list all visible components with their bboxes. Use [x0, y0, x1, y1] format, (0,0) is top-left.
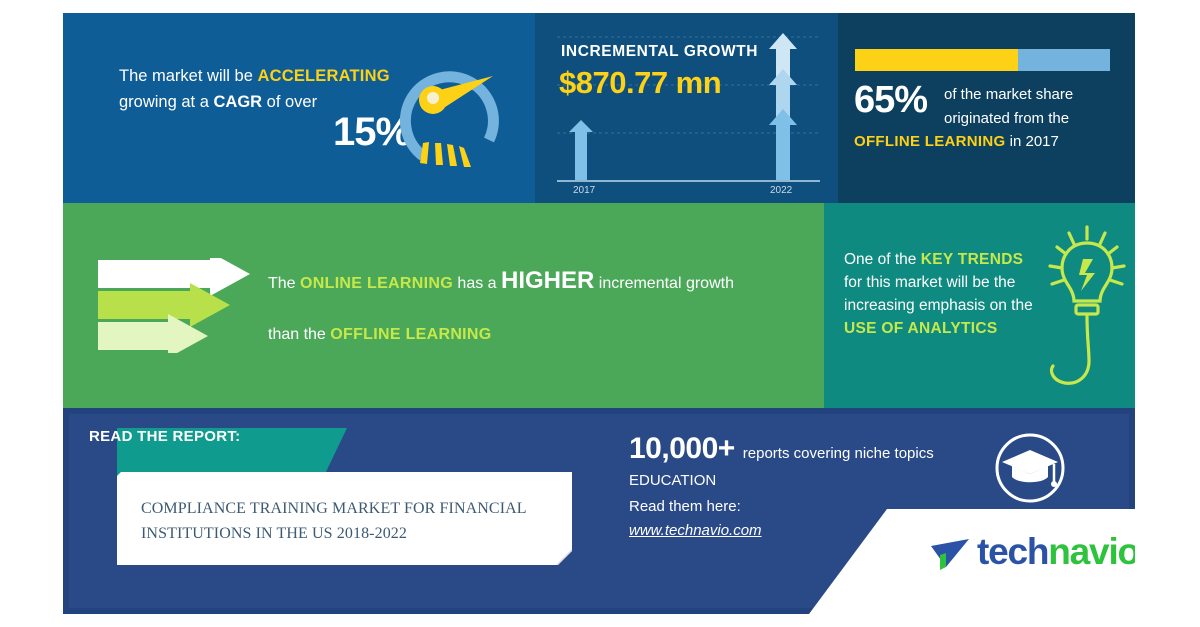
- cagr-statement: The market will be ACCELERATING growing …: [119, 63, 419, 115]
- online-learning-panel: The ONLINE LEARNING has a HIGHER increme…: [63, 203, 824, 408]
- incremental-growth-panel: INCREMENTAL GROWTH $870.77 mn 2017 2022: [535, 13, 838, 203]
- share-description-2: OFFLINE LEARNING in 2017: [854, 131, 1124, 153]
- speedometer-gauge-icon: [393, 48, 513, 178]
- technavio-logo-plate: technavio: [809, 509, 1135, 614]
- market-share-panel: 65% of the market share originated from …: [838, 13, 1135, 203]
- offline-learning-accent: OFFLINE LEARNING: [854, 133, 1005, 150]
- read-here-label: Read them here:: [629, 498, 741, 515]
- technavio-wordmark: technavio: [977, 531, 1135, 573]
- higher-emphasis: HIGHER: [501, 267, 594, 294]
- share-description: of the market share originated from the: [944, 83, 1129, 131]
- share-line2: originated from the: [944, 110, 1069, 127]
- share-bar-fill: [855, 49, 1018, 71]
- cagr-line2-post: of over: [262, 93, 317, 111]
- footer-inner: READ THE REPORT: COMPLIANCE TRAINING MAR…: [69, 414, 1129, 608]
- report-title-card[interactable]: COMPLIANCE TRAINING MARKET FOR FINANCIAL…: [117, 472, 572, 565]
- share-percent: 65%: [854, 79, 927, 122]
- offline-learning-accent-2: OFFLINE LEARNING: [330, 326, 491, 343]
- online-mid: has a: [453, 275, 501, 292]
- reports-count-label: reports covering niche topics: [743, 445, 934, 462]
- card-fold-corner: [556, 549, 572, 565]
- growth-title: INCREMENTAL GROWTH: [561, 43, 758, 61]
- online-learning-accent: ONLINE LEARNING: [300, 275, 453, 292]
- trends-statement: One of the KEY TRENDS for this market wi…: [844, 248, 1044, 340]
- axis-label-2022: 2022: [770, 185, 792, 196]
- key-trends-panel: One of the KEY TRENDS for this market wi…: [824, 203, 1135, 408]
- logo-text-tech: tech: [977, 531, 1048, 572]
- online-pre: The: [268, 275, 300, 292]
- share-bar-track: [855, 49, 1110, 71]
- three-arrows-icon: [98, 258, 258, 353]
- share-suffix: in 2017: [1005, 133, 1058, 150]
- trends-mid: for this market will be the increasing e…: [844, 274, 1033, 314]
- bar-2017: [569, 120, 593, 180]
- cagr-panel: The market will be ACCELERATING growing …: [63, 13, 535, 203]
- report-title: COMPLIANCE TRAINING MARKET FOR FINANCIAL…: [141, 496, 561, 546]
- middle-row: The ONLINE LEARNING has a HIGHER increme…: [63, 203, 1135, 408]
- read-the-report-label: READ THE REPORT:: [89, 428, 240, 445]
- footer-row: READ THE REPORT: COMPLIANCE TRAINING MAR…: [63, 408, 1135, 614]
- growth-value: $870.77 mn: [559, 65, 721, 101]
- website-url-link[interactable]: www.technavio.com: [629, 522, 762, 539]
- online-post: incremental growth: [594, 275, 734, 292]
- lightbulb-idea-icon: [1039, 223, 1134, 398]
- growth-bar-chart: [535, 13, 838, 203]
- category-label: EDUCATION: [629, 472, 716, 489]
- online-line2-pre: than the: [268, 326, 330, 343]
- cagr-bold-label: CAGR: [213, 93, 262, 111]
- reports-count: 10,000+: [629, 432, 735, 465]
- trends-pre: One of the: [844, 251, 921, 268]
- share-line1: of the market share: [944, 86, 1073, 103]
- infographic-canvas: The market will be ACCELERATING growing …: [63, 13, 1135, 614]
- online-statement-line1: The ONLINE LEARNING has a HIGHER increme…: [268, 269, 798, 296]
- top-row: The market will be ACCELERATING growing …: [63, 13, 1135, 203]
- technavio-logo: technavio: [929, 531, 1135, 581]
- use-of-analytics-accent: USE OF ANALYTICS: [844, 320, 998, 337]
- logo-text-navio: navio: [1048, 531, 1135, 572]
- cagr-line2-pre: growing at a: [119, 93, 213, 111]
- cagr-line1-pre: The market will be: [119, 67, 257, 85]
- online-statement-line2: than the OFFLINE LEARNING: [268, 323, 798, 347]
- technavio-paper-plane-icon: [929, 537, 971, 573]
- axis-label-2017: 2017: [573, 185, 595, 196]
- key-trends-accent: KEY TRENDS: [921, 251, 1024, 268]
- graduation-cap-icon: [994, 432, 1066, 504]
- reports-count-line: 10,000+reports covering niche topics: [629, 432, 1049, 466]
- cagr-accelerating-accent: ACCELERATING: [257, 67, 389, 85]
